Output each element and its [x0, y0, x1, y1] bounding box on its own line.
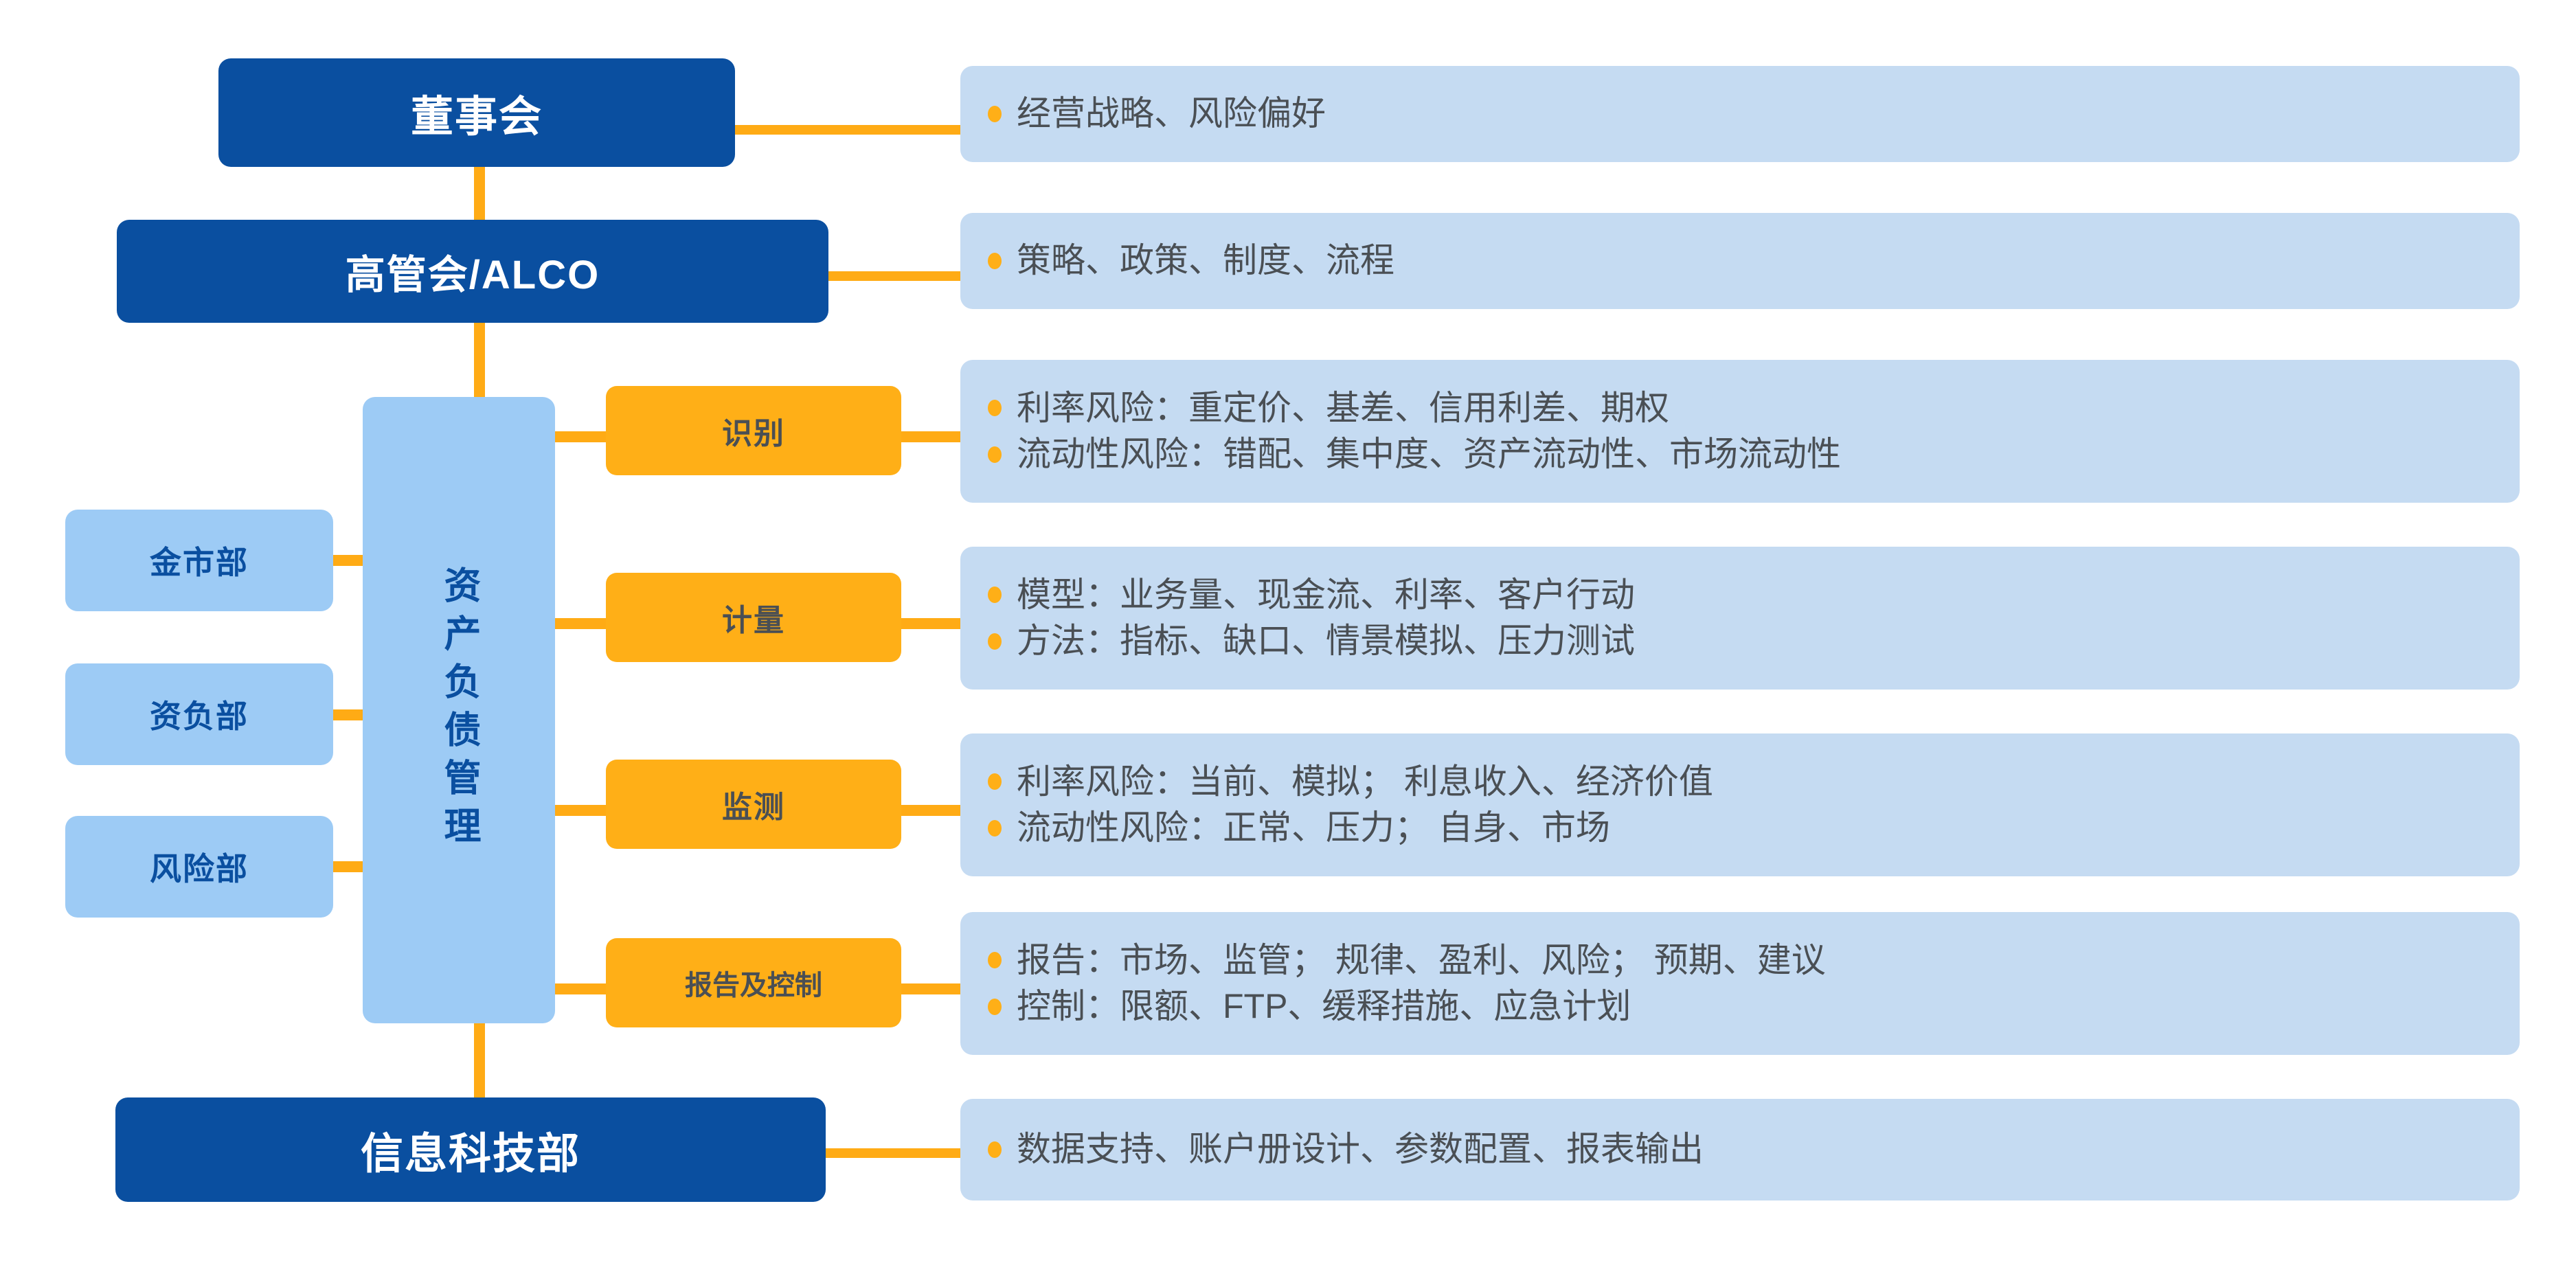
list-item: 经营战略、风险偏好	[988, 91, 2492, 137]
detail-text: 利率风险：重定价、基差、信用利差、期权	[1017, 385, 1669, 432]
detail-panel-identify: 利率风险：重定价、基差、信用利差、期权 流动性风险：错配、集中度、资产流动性、市…	[960, 360, 2520, 503]
detail-panel-monitor: 利率风险：当前、模拟； 利息收入、经济价值 流动性风险：正常、压力； 自身、市场	[960, 733, 2520, 876]
stage-box-measure[interactable]: 计量	[606, 573, 901, 662]
detail-text: 数据支持、账户册设计、参数配置、报表输出	[1017, 1126, 1704, 1173]
list-item: 模型：业务量、现金流、利率、客户行动	[988, 572, 2492, 619]
detail-panel-report-control: 报告：市场、监管； 规律、盈利、风险； 预期、建议 控制：限额、FTP、缓释措施…	[960, 912, 2520, 1055]
bullet-dot-icon	[988, 999, 1002, 1015]
list-item: 流动性风险：正常、压力； 自身、市场	[988, 805, 2492, 852]
detail-panel-measure: 模型：业务量、现金流、利率、客户行动 方法：指标、缺口、情景模拟、压力测试	[960, 547, 2520, 690]
detail-text: 报告：市场、监管； 规律、盈利、风险； 预期、建议	[1017, 937, 1826, 984]
dept-label-jinshi: 金市部	[150, 538, 249, 583]
bullet-dot-icon	[988, 446, 1002, 463]
detail-text: 利率风险：当前、模拟； 利息收入、经济价值	[1017, 759, 1713, 806]
bullet-dot-icon	[988, 952, 1002, 968]
stage-box-identify[interactable]: 识别	[606, 386, 901, 475]
stage-label-monitor: 监测	[722, 782, 785, 826]
list-item: 方法：指标、缺口、情景模拟、压力测试	[988, 618, 2492, 665]
alco-box[interactable]: 高管会/ALCO	[117, 220, 828, 323]
detail-panel-it: 数据支持、账户册设计、参数配置、报表输出	[960, 1099, 2520, 1201]
detail-panel-alco: 策略、政策、制度、流程	[960, 213, 2520, 309]
connector-board-to-alco	[474, 166, 485, 221]
detail-panel-board: 经营战略、风险偏好	[960, 66, 2520, 162]
bullet-dot-icon	[988, 106, 1002, 122]
connector-measure-to-detail	[893, 618, 969, 629]
alco-label: 高管会/ALCO	[346, 242, 600, 300]
bullet-dot-icon	[988, 1141, 1002, 1158]
detail-text: 控制：限额、FTP、缓释措施、应急计划	[1017, 983, 1631, 1030]
detail-text: 经营战略、风险偏好	[1017, 91, 1326, 137]
bullet-dot-icon	[988, 773, 1002, 790]
connector-it-to-detail	[824, 1148, 969, 1158]
alm-pillar-box[interactable]: 资产负债管理	[363, 397, 555, 1023]
list-item: 流动性风险：错配、集中度、资产流动性、市场流动性	[988, 431, 2492, 478]
bullet-dot-icon	[988, 633, 1002, 650]
detail-text: 流动性风险：正常、压力； 自身、市场	[1017, 805, 1610, 852]
bullet-dot-icon	[988, 400, 1002, 416]
detail-text: 策略、政策、制度、流程	[1017, 238, 1394, 284]
bullet-dot-icon	[988, 253, 1002, 269]
connector-monitor-to-detail	[893, 805, 969, 816]
connector-alco-to-pillar	[474, 321, 485, 397]
list-item: 利率风险：重定价、基差、信用利差、期权	[988, 385, 2492, 432]
list-item: 控制：限额、FTP、缓释措施、应急计划	[988, 983, 2492, 1030]
diagram-canvas: 董事会 高管会/ALCO 信息科技部 资产负债管理 金市部 资负部 风险部 识别…	[0, 0, 2576, 1263]
stage-label-report-control: 报告及控制	[685, 963, 822, 1003]
board-box[interactable]: 董事会	[218, 58, 735, 167]
connector-identify-to-detail	[893, 431, 969, 442]
stage-box-report-control[interactable]: 报告及控制	[606, 938, 901, 1027]
list-item: 策略、政策、制度、流程	[988, 238, 2492, 284]
board-label: 董事会	[411, 82, 543, 144]
stage-box-monitor[interactable]: 监测	[606, 760, 901, 849]
dept-box-fengxian[interactable]: 风险部	[65, 816, 333, 918]
alm-pillar-label: 资产负债管理	[440, 566, 477, 854]
stage-label-measure: 计量	[722, 595, 785, 639]
detail-text: 流动性风险：错配、集中度、资产流动性、市场流动性	[1017, 431, 1841, 478]
dept-box-zifu[interactable]: 资负部	[65, 663, 333, 765]
it-dept-label: 信息科技部	[361, 1119, 580, 1181]
detail-text: 模型：业务量、现金流、利率、客户行动	[1017, 572, 1635, 619]
connector-alco-to-detail	[827, 271, 962, 281]
list-item: 报告：市场、监管； 规律、盈利、风险； 预期、建议	[988, 937, 2492, 984]
dept-label-fengxian: 风险部	[150, 844, 249, 889]
connector-board-to-detail	[734, 125, 960, 135]
bullet-dot-icon	[988, 820, 1002, 837]
detail-text: 方法：指标、缺口、情景模拟、压力测试	[1017, 618, 1635, 665]
dept-box-jinshi[interactable]: 金市部	[65, 510, 333, 611]
list-item: 利率风险：当前、模拟； 利息收入、经济价值	[988, 759, 2492, 806]
it-dept-box[interactable]: 信息科技部	[115, 1097, 826, 1202]
stage-label-identify: 识别	[722, 409, 785, 453]
list-item: 数据支持、账户册设计、参数配置、报表输出	[988, 1126, 2492, 1173]
dept-label-zifu: 资负部	[150, 692, 249, 737]
connector-report-to-detail	[893, 983, 969, 994]
bullet-dot-icon	[988, 587, 1002, 603]
